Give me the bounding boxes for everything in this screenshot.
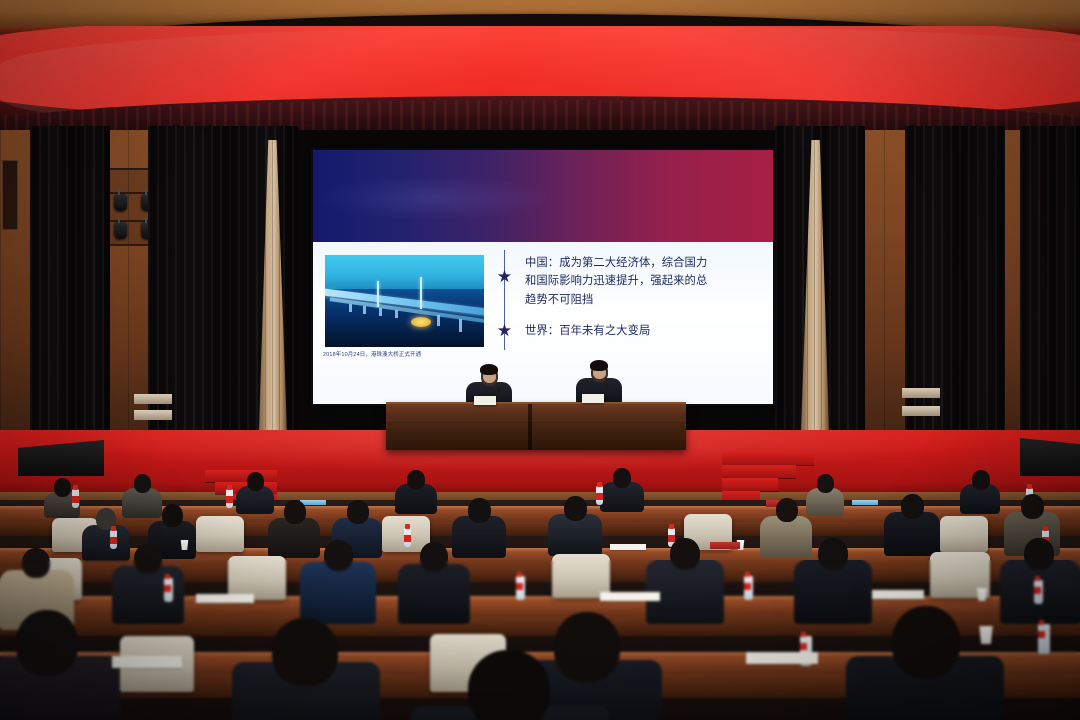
red-folder [710,542,740,549]
microphone-left [498,386,500,400]
water-bottle [1034,580,1043,604]
audience-chair [196,516,244,552]
wall-vent-left-2 [134,410,172,420]
notepad [112,656,182,668]
bridge-pier-4 [395,310,398,318]
bridge-photo [325,255,484,347]
nameplate-left [474,396,496,405]
bridge-pylon-1 [377,281,379,307]
notepad [600,592,660,601]
floor-monitor-right [1020,438,1080,476]
speaker-right-hair [590,360,608,371]
star-icon: ★ [496,322,513,339]
bridge-pier-5 [437,315,440,326]
wall-vent-left-1 [134,394,172,404]
slide-header-glow [319,176,549,220]
wall-sign [2,160,18,230]
tablet-screen [852,500,878,505]
black-drape-1 [30,126,110,462]
slide-bullet-2: 世界：百年未有之大变局 [525,322,763,340]
notepad [746,652,818,664]
slide-bullet-1-line-3: 趋势不可阻挡 [525,291,763,309]
water-bottle [744,576,753,600]
water-bottle [110,530,117,549]
photo-caption: 2018年10月24日，港珠澳大桥正式开通 [323,350,523,358]
bridge-pier-1 [349,304,352,312]
bridge-pier-6 [459,319,462,332]
water-bottle [164,578,173,602]
audience-chair [940,516,988,552]
wall-vent-right-1 [902,388,940,398]
head-table-seam [528,404,532,450]
water-bottle [596,486,603,505]
black-drape-5 [1020,126,1080,462]
star-icon: ★ [496,268,513,285]
water-bottle [72,489,79,508]
speaker-left-hair [480,364,498,375]
head-table-skirt [388,420,684,448]
wall-vent-right-2 [902,406,940,416]
water-bottle [226,489,233,508]
conference-hall-photo: 2018年10月24日，港珠澳大桥正式开通 ★ ★ 中国：成为第二大经济体，综合… [0,0,1080,720]
slide-bullet-1-line-1: 中国：成为第二大经济体，综合国力 [525,254,763,272]
notepad [610,544,646,550]
slide-bullet-2-line-1: 世界：百年未有之大变局 [525,322,763,340]
notepad [196,594,254,603]
water-bottle [1038,624,1050,654]
microphone-right [606,382,608,396]
slide-text-block: 中国：成为第二大经济体，综合国力 和国际影响力迅速提升，强起来的总 趋势不可阻挡… [525,254,763,340]
bridge-pylon-2 [420,277,422,309]
slide-bullet-1: 中国：成为第二大经济体，综合国力 和国际影响力迅速提升，强起来的总 趋势不可阻挡 [525,254,763,309]
presentation-slide: 2018年10月24日，港珠澳大桥正式开通 ★ ★ 中国：成为第二大经济体，综合… [313,150,773,404]
water-bottle [404,528,411,547]
bridge-pier-2 [363,306,366,314]
water-bottle [516,576,525,600]
slide-bullet-1-line-2: 和国际影响力迅速提升，强起来的总 [525,272,763,290]
nameplate-right [582,394,604,403]
bridge-island-light [411,317,431,327]
bridge-pier-3 [379,308,382,316]
notepad [872,590,924,599]
photo-sky [325,255,484,289]
